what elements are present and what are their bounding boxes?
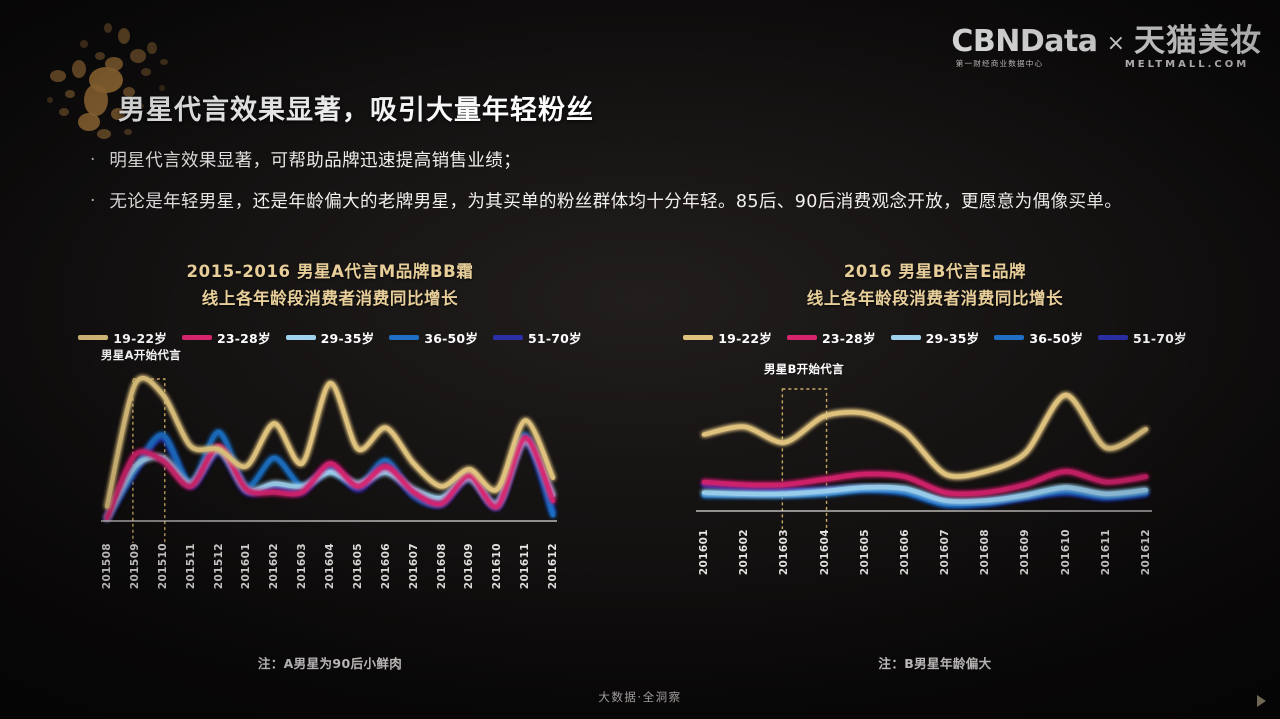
- legend-color-swatch: [286, 335, 316, 340]
- list-item: · 无论是年轻男星，还是年龄偏大的老牌男星，为其买单的粉丝群体均十分年轻。85后…: [90, 189, 1200, 216]
- chart-note-left: 注：A男星为90后小鲜肉: [95, 653, 565, 672]
- legend-label: 23-28岁: [822, 328, 876, 347]
- legend-item: 29-35岁: [286, 328, 375, 347]
- chart-title-left: 2015-2016 男星A代言M品牌BB霜 线上各年龄段消费者消费同比增长: [95, 258, 565, 312]
- x-axis-tick-label: 201609: [463, 543, 475, 589]
- brand-separator: ×: [1107, 33, 1125, 57]
- x-axis-tick-label: 201607: [408, 543, 420, 589]
- plot-area-right: 男星B开始代言 20160120160220160320160420160520…: [690, 377, 1180, 607]
- chart-panel-right: 2016 男星B代言E品牌 线上各年龄段消费者消费同比增长 19-22岁23-2…: [690, 258, 1180, 607]
- legend-item: 19-22岁: [78, 328, 167, 347]
- x-axis-tick-label: 201510: [157, 543, 169, 589]
- legend-color-swatch: [787, 335, 817, 340]
- x-axis-tick-label: 201605: [859, 529, 871, 575]
- x-axis-tick-label: 201607: [939, 529, 951, 575]
- list-item: · 明星代言效果显著，可帮助品牌迅速提高销售业绩；: [90, 148, 1200, 175]
- chart-title-line2: 线上各年龄段消费者消费同比增长: [95, 285, 565, 312]
- legend-color-swatch: [683, 335, 713, 340]
- annotation-left: 男星A开始代言: [101, 347, 181, 363]
- x-axis-tick-label: 201604: [819, 529, 831, 575]
- x-axis-tick-label: 201508: [101, 543, 113, 589]
- line-chart-left: [95, 361, 565, 543]
- legend-item: 36-50岁: [994, 328, 1083, 347]
- legend-label: 36-50岁: [424, 328, 478, 347]
- highlight-box: [782, 389, 826, 529]
- legend-color-swatch: [994, 335, 1024, 340]
- bullet-marker: ·: [90, 189, 95, 216]
- legend-label: 36-50岁: [1029, 328, 1083, 347]
- bullet-marker: ·: [90, 148, 95, 175]
- x-axis-tick-label: 201511: [185, 543, 197, 589]
- x-axis-tick-label: 201608: [436, 543, 448, 589]
- x-axis-tick-label: 201610: [491, 543, 503, 589]
- chart-title-line2: 线上各年龄段消费者消费同比增长: [690, 285, 1180, 312]
- legend-color-swatch: [78, 335, 108, 340]
- legend-label: 19-22岁: [113, 328, 167, 347]
- x-axis-tick-label: 201612: [1140, 529, 1152, 575]
- legend-item: 51-70岁: [1098, 328, 1187, 347]
- chart-line-series: [107, 378, 553, 507]
- x-axis-tick-label: 201605: [352, 543, 364, 589]
- x-axis-tick-label: 201606: [899, 529, 911, 575]
- chart-title-right: 2016 男星B代言E品牌 线上各年龄段消费者消费同比增长: [690, 258, 1180, 312]
- legend-item: 51-70岁: [493, 328, 582, 347]
- legend-label: 29-35岁: [321, 328, 375, 347]
- x-axis-tick-label: 201606: [380, 543, 392, 589]
- x-axis-tick-label: 201610: [1060, 529, 1072, 575]
- x-axis-tick-label: 201512: [213, 543, 225, 589]
- annotation-right: 男星B开始代言: [764, 361, 844, 377]
- legend-label: 29-35岁: [926, 328, 980, 347]
- bullet-text: 无论是年轻男星，还是年龄偏大的老牌男星，为其买单的粉丝群体均十分年轻。85后、9…: [109, 189, 1122, 216]
- brand-partner-site: MELTMALL.COM: [1112, 60, 1262, 70]
- x-axis-tick-label: 201601: [698, 529, 710, 575]
- brand-partner-text: 天猫美妆: [1134, 26, 1262, 57]
- next-slide-arrow-icon[interactable]: [1257, 695, 1266, 707]
- chart-line-series: [704, 395, 1146, 477]
- footer-text: 大数据·全洞察: [0, 689, 1280, 705]
- legend-item: 36-50岁: [389, 328, 478, 347]
- bullet-list: · 明星代言效果显著，可帮助品牌迅速提高销售业绩； · 无论是年轻男星，还是年龄…: [90, 148, 1200, 230]
- plot-area-left: 男星A开始代言 20150820150920151020151120151220…: [95, 361, 565, 621]
- slide-canvas: CBNData × 天猫美妆 第一财经商业数据中心 MELTMALL.COM 男…: [0, 0, 1280, 719]
- chart-title-line1: 2015-2016 男星A代言M品牌BB霜: [187, 262, 474, 281]
- x-axis-tick-label: 201603: [296, 543, 308, 589]
- x-axis-tick-label: 201602: [268, 543, 280, 589]
- x-axis-tick-label: 201612: [547, 543, 559, 589]
- x-axis-tick-label: 201604: [324, 543, 336, 589]
- legend-color-swatch: [1098, 335, 1128, 340]
- legend-item: 23-28岁: [182, 328, 271, 347]
- legend-label: 51-70岁: [528, 328, 582, 347]
- chart-note-right: 注：B男星年龄偏大: [690, 653, 1180, 672]
- brand-logo: CBNData × 天猫美妆 第一财经商业数据中心 MELTMALL.COM: [951, 26, 1262, 70]
- bullet-text: 明星代言效果显著，可帮助品牌迅速提高销售业绩；: [109, 148, 521, 175]
- brand-subtitle: 第一财经商业数据中心: [952, 60, 1095, 70]
- x-axis-tick-label: 201603: [778, 529, 790, 575]
- chart-legend-left: 19-22岁23-28岁29-35岁36-50岁51-70岁: [95, 328, 565, 347]
- x-axis-tick-label: 201509: [129, 543, 141, 589]
- x-axis-tick-label: 201602: [738, 529, 750, 575]
- legend-label: 23-28岁: [217, 328, 271, 347]
- chart-title-line1: 2016 男星B代言E品牌: [844, 262, 1026, 281]
- x-axis-tick-label: 201611: [519, 543, 531, 589]
- page-title: 男星代言效果显著，吸引大量年轻粉丝: [118, 88, 594, 127]
- brand-cbndata-text: CBNData: [951, 27, 1097, 57]
- x-axis-tick-label: 201609: [1019, 529, 1031, 575]
- chart-legend-right: 19-22岁23-28岁29-35岁36-50岁51-70岁: [690, 328, 1180, 347]
- legend-item: 23-28岁: [787, 328, 876, 347]
- chart-panel-left: 2015-2016 男星A代言M品牌BB霜 线上各年龄段消费者消费同比增长 19…: [95, 258, 565, 621]
- legend-label: 19-22岁: [718, 328, 772, 347]
- line-chart-right: [690, 377, 1160, 529]
- legend-label: 51-70岁: [1133, 328, 1187, 347]
- x-axis-labels-left: 2015082015092015102015112015122016012016…: [95, 543, 565, 621]
- legend-color-swatch: [389, 335, 419, 340]
- legend-item: 29-35岁: [891, 328, 980, 347]
- x-axis-tick-label: 201608: [979, 529, 991, 575]
- x-axis-labels-right: 2016012016022016032016042016052016062016…: [690, 529, 1160, 607]
- legend-color-swatch: [891, 335, 921, 340]
- legend-color-swatch: [182, 335, 212, 340]
- legend-color-swatch: [493, 335, 523, 340]
- x-axis-tick-label: 201601: [240, 543, 252, 589]
- legend-item: 19-22岁: [683, 328, 772, 347]
- x-axis-tick-label: 201611: [1100, 529, 1112, 575]
